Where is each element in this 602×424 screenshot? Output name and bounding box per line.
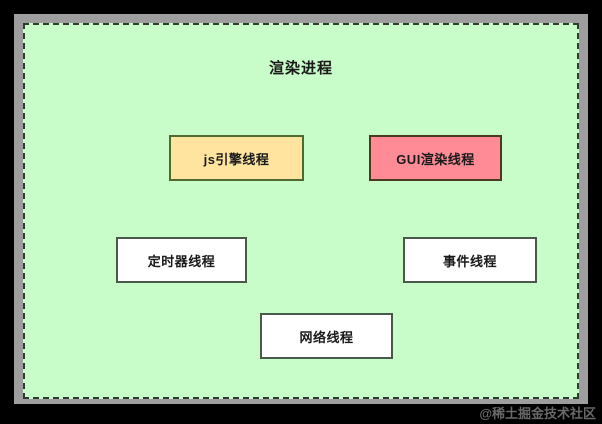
- diagram-canvas: 渲染进程 js引擎线程 GUI渲染线程 定时器线程 事件线程 网络线程 @稀土掘…: [0, 0, 602, 424]
- thread-box-js-engine: js引擎线程: [169, 135, 304, 181]
- process-title: 渲染进程: [25, 57, 577, 78]
- thread-label-js-engine: js引擎线程: [204, 149, 270, 168]
- watermark: @稀土掘金技术社区: [479, 403, 596, 422]
- thread-box-gui-render: GUI渲染线程: [369, 135, 502, 181]
- thread-box-timer: 定时器线程: [116, 237, 247, 283]
- thread-label-network: 网络线程: [299, 327, 353, 346]
- thread-label-timer: 定时器线程: [148, 251, 216, 270]
- thread-label-gui-render: GUI渲染线程: [396, 149, 475, 168]
- thread-label-event: 事件线程: [443, 251, 497, 270]
- thread-box-event: 事件线程: [403, 237, 537, 283]
- thread-box-network: 网络线程: [260, 313, 393, 359]
- render-process-container: 渲染进程 js引擎线程 GUI渲染线程 定时器线程 事件线程 网络线程: [23, 23, 579, 399]
